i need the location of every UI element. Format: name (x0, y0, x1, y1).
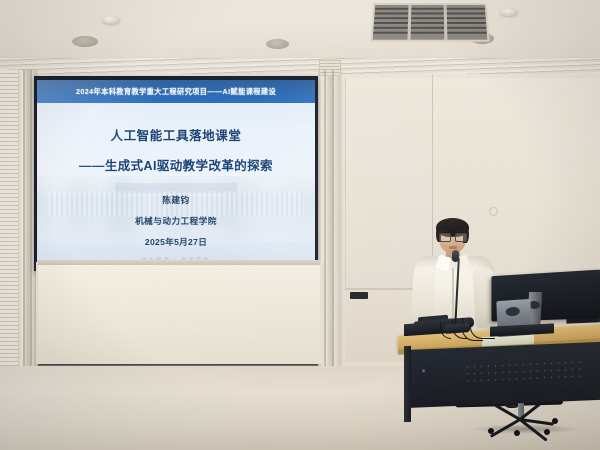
slide-department: 机械与动力工程学院 (135, 215, 217, 227)
lecture-room-photo: 2024年本科教育教学重大工程研究项目——AI赋能课程建设 人工智能工具落地课堂… (0, 0, 600, 450)
wall-mounted-device (350, 292, 368, 299)
slide-title-line2: ——生成式AI驱动教学改革的探索 (79, 155, 273, 174)
projection-screen-frame: 2024年本科教育教学重大工程研究项目——AI赋能课程建设 人工智能工具落地课堂… (34, 76, 318, 271)
slide-date: 2025年5月27日 (145, 236, 207, 248)
eyeglasses-icon (439, 233, 466, 241)
slide-title-line1: 人工智能工具落地课堂 (110, 125, 241, 144)
slide-author: 陈建钧 (162, 194, 189, 206)
microphone-base (444, 323, 470, 334)
slide-banner: 2024年本科教育教学重大工程研究项目——AI赋能课程建设 (37, 80, 315, 103)
ceiling-air-vent (371, 3, 490, 41)
ceiling-speaker (72, 36, 98, 47)
chair-base (488, 416, 556, 432)
desk-leg (404, 346, 411, 422)
recessed-ceiling-light (102, 16, 120, 24)
slide-body: 人工智能工具落地课堂 ——生成式AI驱动教学改革的探索 陈建钧 机械与动力工程学… (37, 103, 315, 265)
wall-sensor-icon (489, 207, 498, 216)
ceiling-speaker (266, 39, 289, 49)
ceiling (0, 0, 600, 62)
podium-desk-cabinet (404, 342, 600, 408)
presentation-slide[interactable]: 2024年本科教育教学重大工程研究项目——AI赋能课程建设 人工智能工具落地课堂… (37, 80, 315, 265)
whiteboard-rail (38, 260, 320, 265)
slide-banner-text: 2024年本科教育教学重大工程研究项目——AI赋能课程建设 (76, 87, 276, 97)
whiteboard (36, 262, 322, 364)
column-cap-vent (319, 60, 341, 76)
recessed-ceiling-light (500, 8, 518, 16)
